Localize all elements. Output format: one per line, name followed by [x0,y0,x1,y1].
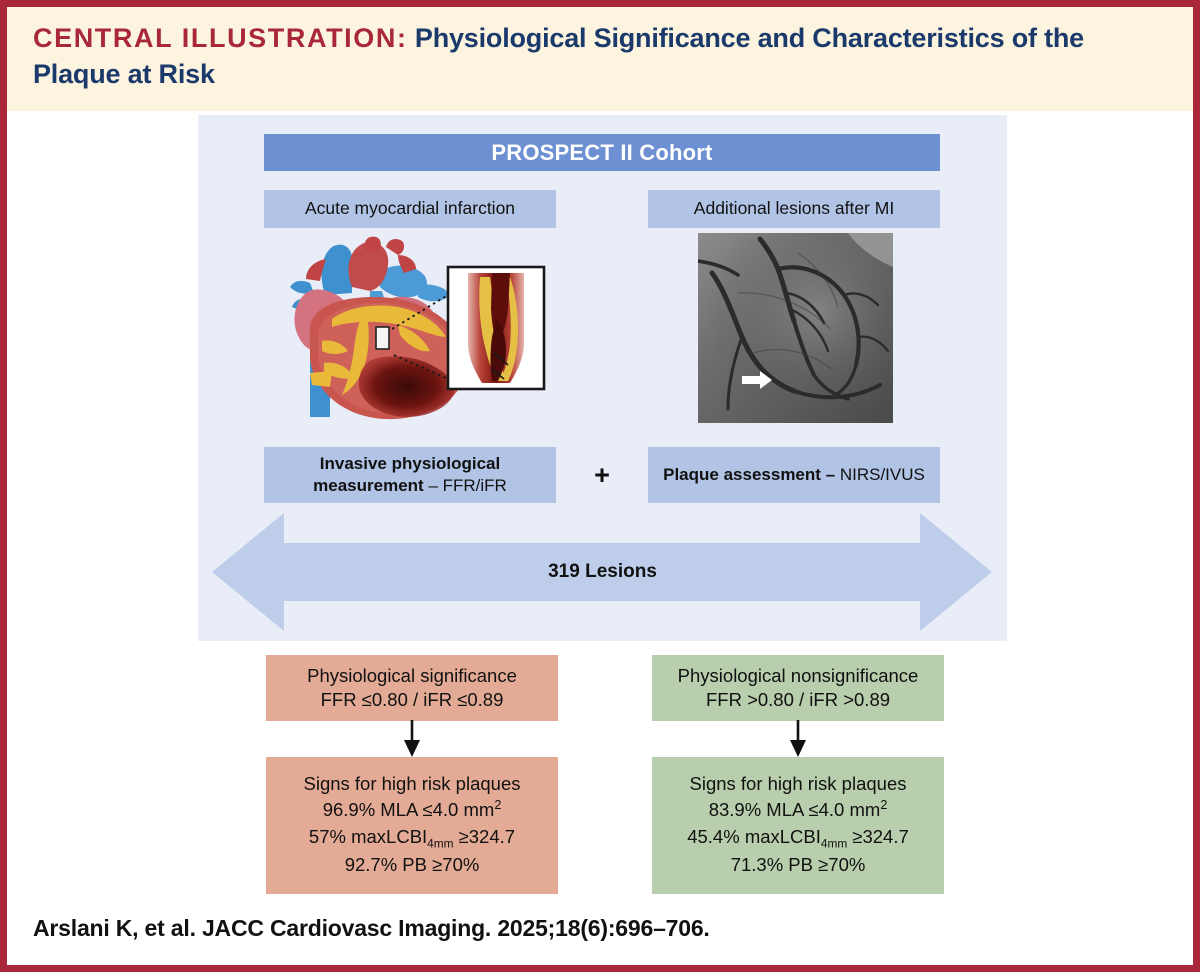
outcome-body-significance: Signs for high risk plaques 96.9% MLA ≤4… [266,757,558,894]
cohort-bar: PROSPECT II Cohort [264,134,940,171]
page-title: CENTRAL ILLUSTRATION: Physiological Sign… [33,21,1167,93]
stat-metric: PB [402,854,427,875]
stat-metric: MLA [380,799,417,820]
stat-sub: 4mm [427,836,453,850]
outcome-head-significance: Physiological significance FFR ≤0.80 / i… [266,655,558,721]
outcome-stat-row: 83.9% MLA ≤4.0 mm2 [658,797,938,823]
stat-metric: PB [788,854,813,875]
method-plaque-regular: NIRS/IVUS [840,465,925,484]
stat-op: ≥70% [432,854,479,875]
header-band: CENTRAL ILLUSTRATION: Physiological Sign… [7,7,1193,114]
plus-icon: + [582,447,622,503]
method-box-physiology: Invasive physiological measurement – FFR… [264,447,556,503]
stat-pct: 45.4% [687,826,739,847]
stat-op: ≤4.0 mm [422,799,494,820]
stat-pct: 92.7% [345,854,397,875]
stat-sup: 2 [880,798,887,812]
outcome-stat-row: 96.9% MLA ≤4.0 mm2 [272,797,552,823]
outcome-stat-row: 57% maxLCBI4mm ≥324.7 [272,824,552,853]
stat-pct: 57% [309,826,346,847]
outcome-body-nonsignificance: Signs for high risk plaques 83.9% MLA ≤4… [652,757,944,894]
outcome-stat-row: 71.3% PB ≥70% [658,852,938,878]
stat-pct: 71.3% [731,854,783,875]
method-physiology-regular: – FFR/iFR [424,476,507,495]
connector-arrow-left [266,720,558,758]
lesions-double-arrow [212,513,992,631]
connector-arrow-right [652,720,944,758]
outcome-head-line2-right: FFR >0.80 / iFR >0.89 [658,688,938,712]
stat-op: ≥70% [818,854,865,875]
heart-anatomy-illustration [270,233,552,423]
outcome-stat-row: 45.4% maxLCBI4mm ≥324.7 [658,824,938,853]
sub-box-additional-lesions: Additional lesions after MI [648,190,940,228]
stat-pct: 96.9% [323,799,375,820]
outcome-stat-row: 92.7% PB ≥70% [272,852,552,878]
outcome-body-title-right: Signs for high risk plaques [658,771,938,797]
header-kicker: CENTRAL ILLUSTRATION: [33,23,408,53]
outcome-head-line1-right: Physiological nonsignificance [658,664,938,688]
stat-op: ≤4.0 mm [808,799,880,820]
outcome-head-line2-left: FFR ≤0.80 / iFR ≤0.89 [272,688,552,712]
central-illustration-page: CENTRAL ILLUSTRATION: Physiological Sign… [0,0,1200,972]
stat-sup: 2 [494,798,501,812]
outcome-body-title-left: Signs for high risk plaques [272,771,552,797]
outcome-head-nonsignificance: Physiological nonsignificance FFR >0.80 … [652,655,944,721]
study-flow-panel: PROSPECT II Cohort Acute myocardial infa… [198,115,1007,641]
stat-metric: maxLCBI [745,826,821,847]
coronary-angiogram-image [698,233,893,423]
method-box-plaque: Plaque assessment – NIRS/IVUS [648,447,940,503]
method-plaque-bold: Plaque assessment – [663,465,840,484]
stat-op: ≥324.7 [459,826,515,847]
outcome-head-line1-left: Physiological significance [272,664,552,688]
sub-box-acute-mi: Acute myocardial infarction [264,190,556,228]
citation-text: Arslani K, et al. JACC Cardiovasc Imagin… [33,915,710,942]
stat-op: ≥324.7 [852,826,908,847]
stat-metric: maxLCBI [351,826,427,847]
stat-metric: MLA [766,799,803,820]
stat-pct: 83.9% [709,799,761,820]
stat-sub: 4mm [821,836,847,850]
